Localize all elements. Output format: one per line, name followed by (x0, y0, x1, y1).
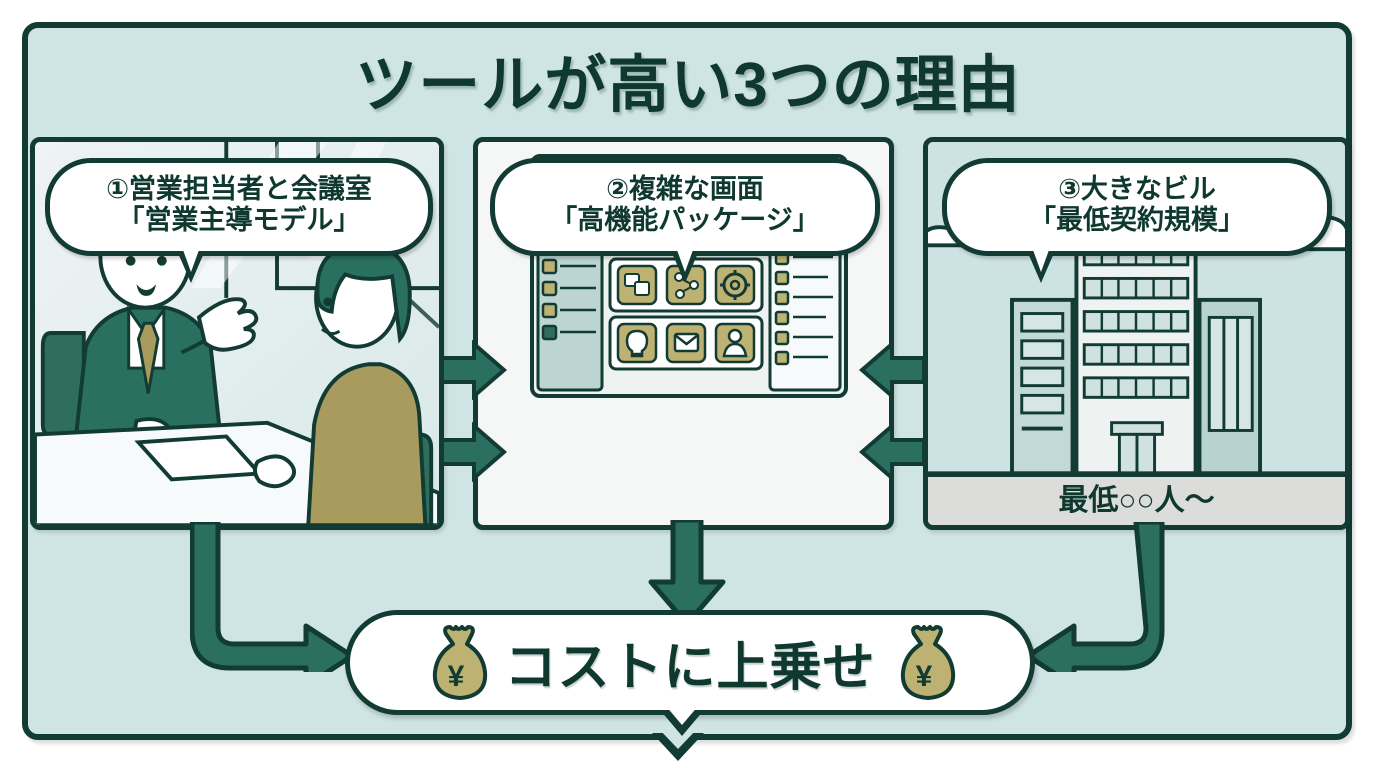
arrow-right-to-center-top (858, 340, 926, 400)
bubble-2-line-1: ②複雑な画面 (606, 174, 764, 204)
result-bubble: ¥ コストに上乗せ ¥ (345, 610, 1035, 715)
bubble-1-line-2: 「営業主導モデル」 (50, 205, 428, 236)
yen-symbol-left: ¥ (448, 660, 465, 693)
user-icon (716, 324, 754, 362)
mail-icon (667, 324, 705, 362)
result-bubble-tail-inner (665, 705, 699, 725)
bubble-1-line-1: ①営業担当者と会議室 (106, 174, 372, 204)
copy-icon (618, 266, 656, 304)
money-bag-icon-right: ¥ (888, 624, 960, 702)
bubble-3-tail-inner (1033, 250, 1049, 272)
bulb-icon (618, 324, 656, 362)
infographic-root: ツールが高い3つの理由 (0, 0, 1376, 768)
bubble-2-tail-inner (677, 250, 693, 272)
arrow-left-to-center-bottom (440, 422, 508, 482)
bubble-3-line-1: ③大きなビル (1058, 174, 1216, 204)
gear-icon-card (716, 266, 754, 304)
bubble-3-line-2: 「最低契約規模」 (947, 205, 1327, 236)
bubble-reason-2: ②複雑な画面 「高機能パッケージ」 (490, 158, 880, 256)
bubble-reason-3: ③大きなビル 「最低契約規模」 (942, 158, 1332, 256)
result-text: コストに上乗せ (504, 625, 875, 700)
bubble-1-tail-inner (183, 250, 199, 272)
arrow-right-to-center-bottom (858, 422, 926, 482)
bubble-2-line-2: 「高機能パッケージ」 (495, 205, 875, 236)
yen-symbol-right: ¥ (915, 660, 932, 693)
arrow-left-to-center-top (440, 340, 508, 400)
money-bag-icon-left: ¥ (420, 624, 492, 702)
bubble-reason-1: ①営業担当者と会議室 「営業主導モデル」 (45, 158, 433, 256)
page-title: ツールが高い3つの理由 (0, 34, 1376, 124)
minimum-seats-banner: 最低○○人〜 (928, 473, 1345, 525)
